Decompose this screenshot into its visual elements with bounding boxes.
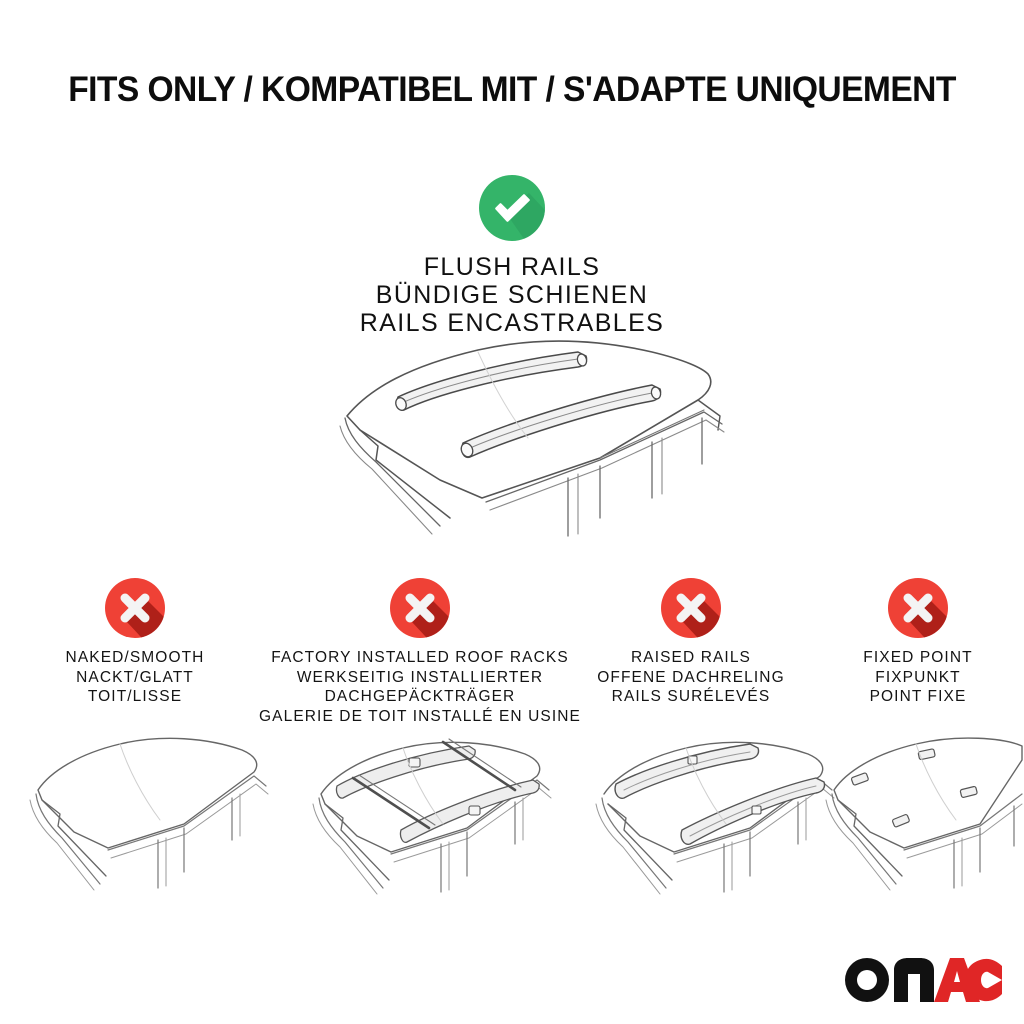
compatible-section: FLUSH RAILS BÜNDIGE SCHIENEN RAILS ENCAS… (0, 175, 1024, 337)
omac-logo-mark (842, 954, 1002, 1006)
incompatible-labels: RAISED RAILS OFFENE DACHRELING RAILS SUR… (597, 648, 785, 707)
roof-with-crossbars-illustration (283, 720, 563, 910)
incompatible-columns: NAKED/SMOOTH NACKT/GLATT TOIT/LISSE (0, 578, 1024, 727)
compatible-label-line-3: RAILS ENCASTRABLES (0, 309, 1024, 337)
label-line-1: FACTORY INSTALLED ROOF RACKS (259, 648, 581, 668)
compatible-label-line-1: FLUSH RAILS (0, 253, 1024, 281)
label-line-3: TOIT/LISSE (66, 687, 205, 707)
label-line-3: DACHGEPÄCKTRÄGER (259, 687, 581, 707)
label-line-1: FIXED POINT (863, 648, 972, 668)
red-x-circle-icon (888, 578, 948, 638)
compatible-label-line-2: BÜNDIGE SCHIENEN (0, 281, 1024, 309)
red-x-circle-icon (105, 578, 165, 638)
incompatible-item-naked-smooth: NAKED/SMOOTH NACKT/GLATT TOIT/LISSE (0, 578, 270, 707)
incompatible-labels: NAKED/SMOOTH NACKT/GLATT TOIT/LISSE (66, 648, 205, 707)
roof-illustrations-row (0, 718, 1024, 918)
label-line-1: RAISED RAILS (597, 648, 785, 668)
incompatible-item-fixed-point: FIXED POINT FIXPUNKT POINT FIXE (812, 578, 1024, 707)
fitment-infographic: FITS ONLY / KOMPATIBEL MIT / S'ADAPTE UN… (0, 0, 1024, 1024)
incompatible-item-raised-rails: RAISED RAILS OFFENE DACHRELING RAILS SUR… (570, 578, 812, 707)
roof-with-fixed-points-illustration (808, 720, 1024, 910)
incompatible-labels: FIXED POINT FIXPUNKT POINT FIXE (863, 648, 972, 707)
red-x-circle-icon (390, 578, 450, 638)
label-line-2: NACKT/GLATT (66, 668, 205, 688)
label-line-2: OFFENE DACHRELING (597, 668, 785, 688)
label-line-3: RAILS SURÉLEVÉS (597, 687, 785, 707)
green-check-circle-icon (479, 175, 545, 241)
label-line-2: FIXPUNKT (863, 668, 972, 688)
compatible-labels: FLUSH RAILS BÜNDIGE SCHIENEN RAILS ENCAS… (0, 253, 1024, 337)
label-line-1: NAKED/SMOOTH (66, 648, 205, 668)
roof-with-raised-rails-illustration (570, 722, 840, 912)
page-title: FITS ONLY / KOMPATIBEL MIT / S'ADAPTE UN… (20, 70, 1003, 110)
incompatible-labels: FACTORY INSTALLED ROOF RACKS WERKSEITIG … (259, 648, 581, 727)
label-line-3: POINT FIXE (863, 687, 972, 707)
red-x-circle-icon (661, 578, 721, 638)
label-line-2: WERKSEITIG INSTALLIERTER (259, 668, 581, 688)
car-roof-with-flush-rails-illustration (300, 338, 750, 568)
bare-roof-illustration (8, 728, 276, 908)
incompatible-item-factory-installed-roof-racks: FACTORY INSTALLED ROOF RACKS WERKSEITIG … (270, 578, 570, 727)
omac-logo (842, 954, 1002, 1006)
